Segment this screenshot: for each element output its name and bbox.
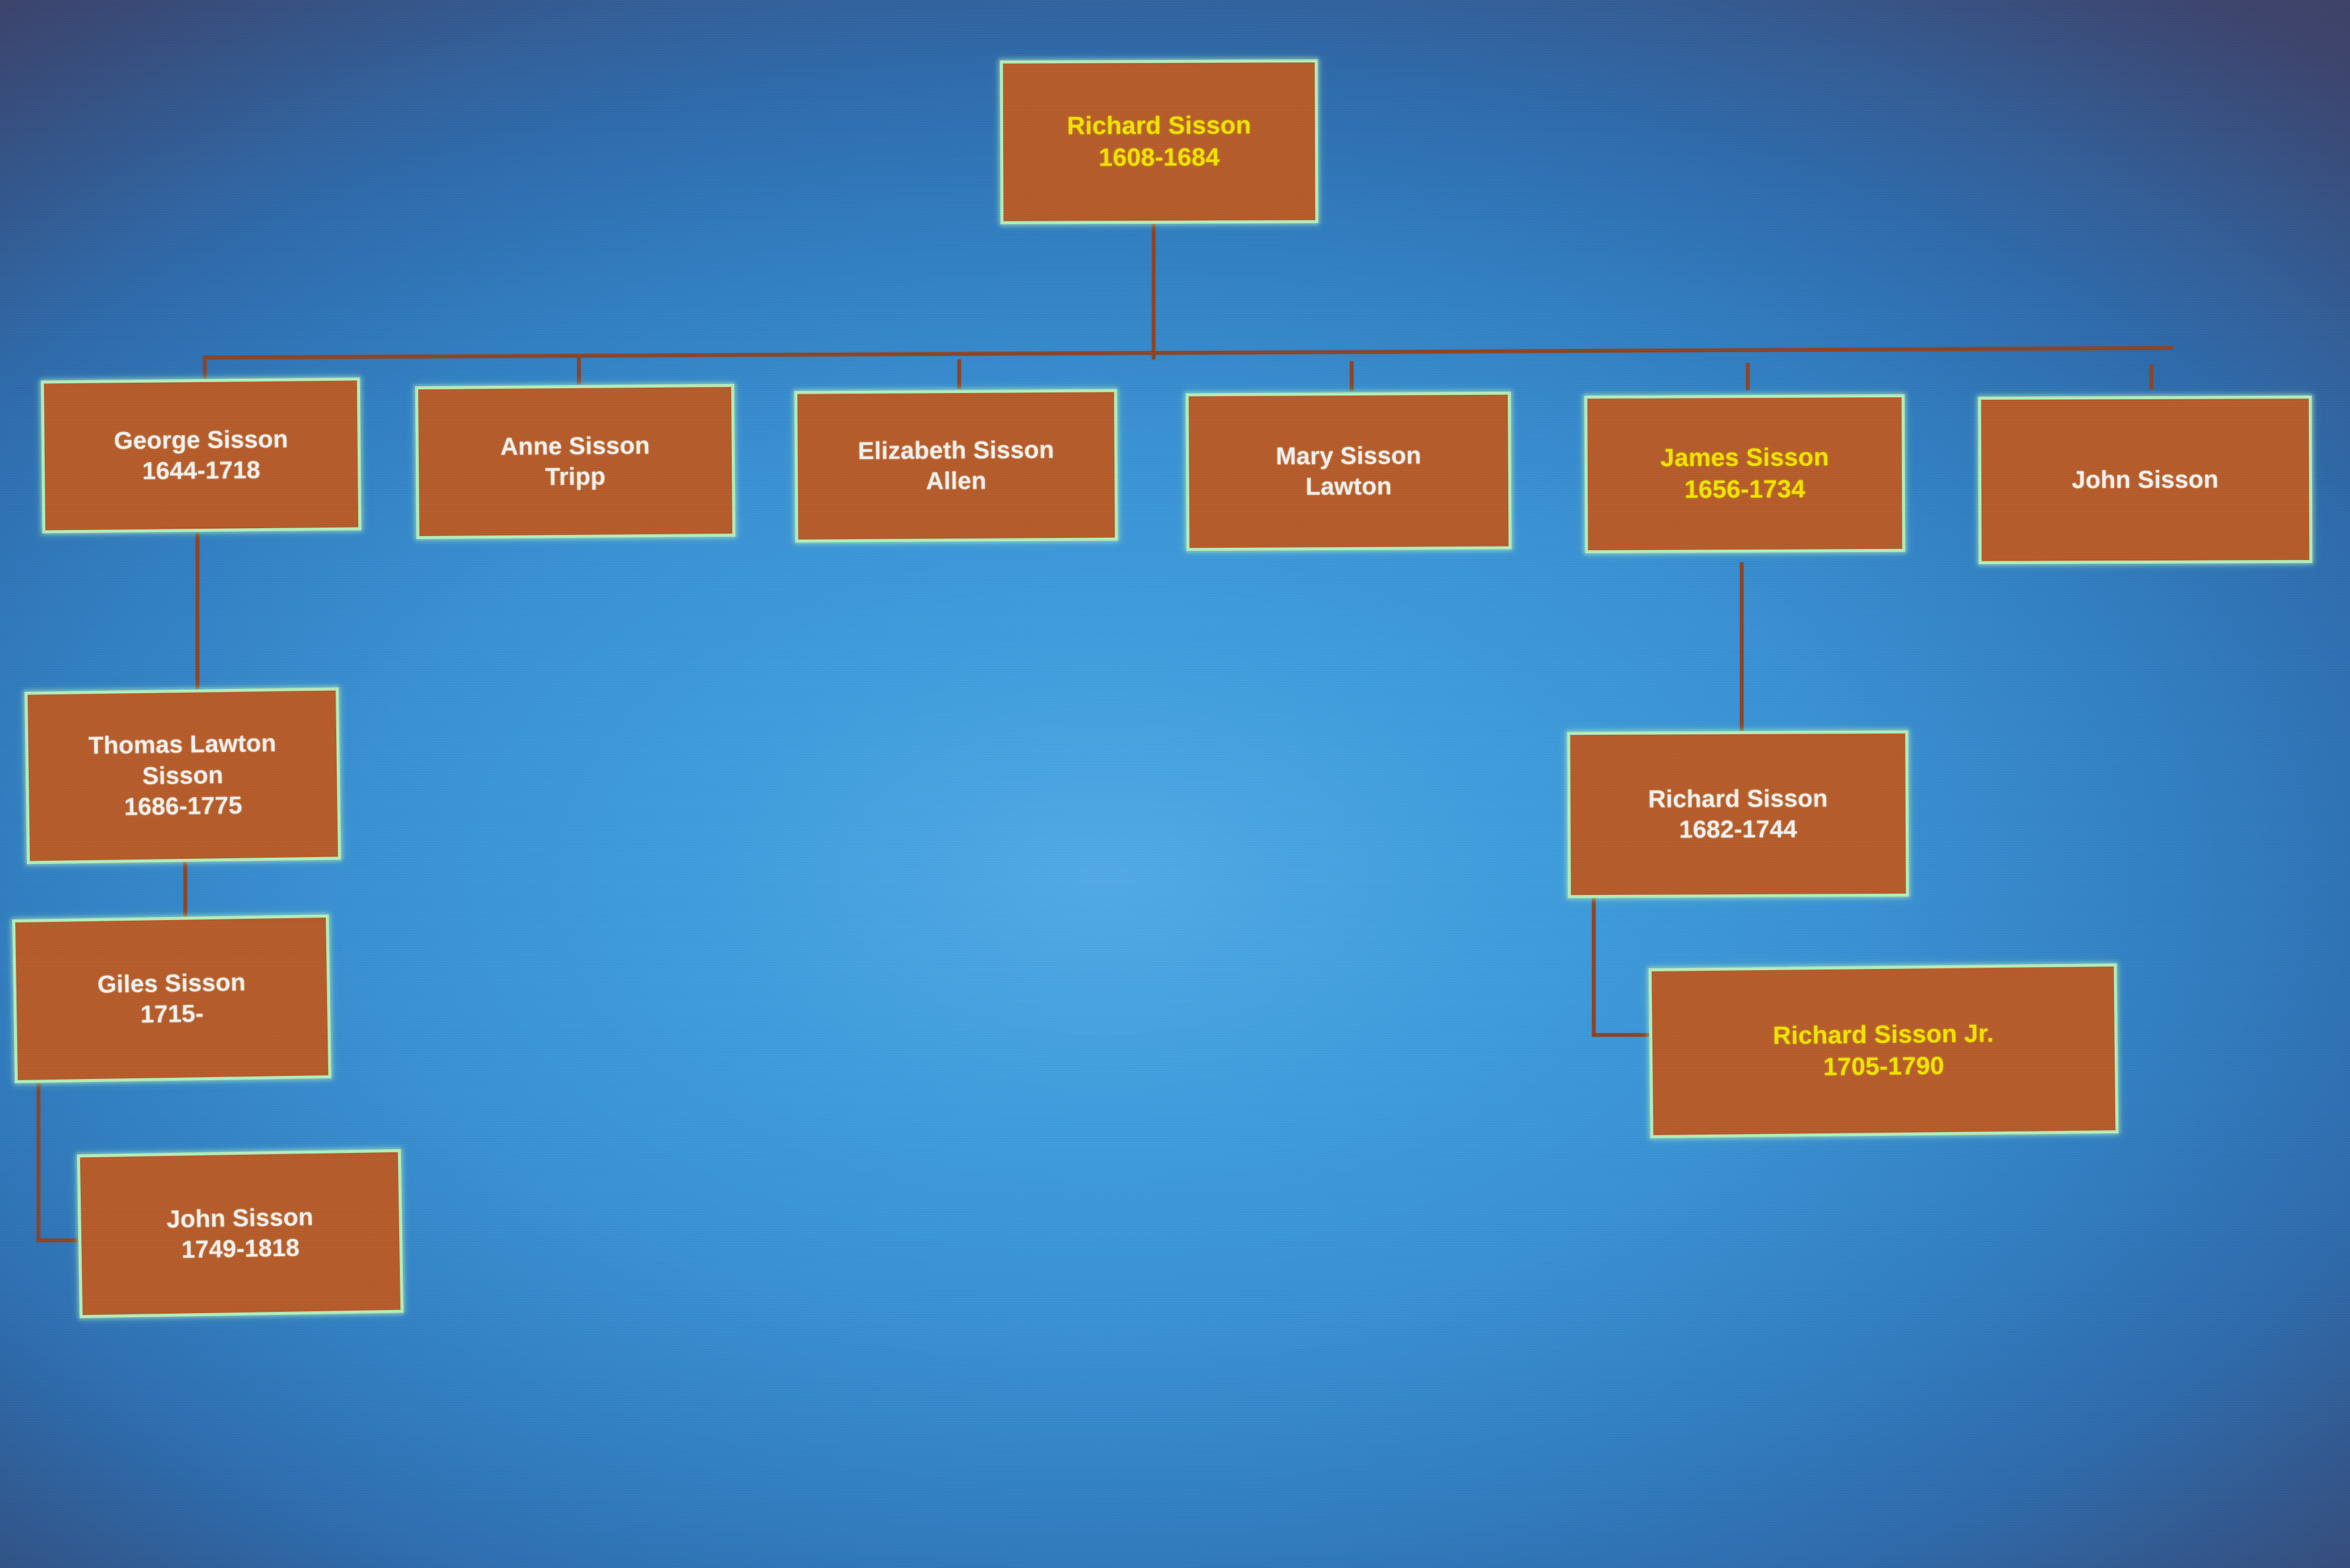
connector-drop-anne — [577, 358, 581, 385]
node-dates: 1682-1744 — [1577, 814, 1899, 846]
node-surname: Sisson — [35, 758, 331, 793]
connector-drop-mary — [1350, 361, 1354, 391]
connector-richard2-to-richardjr-vertical — [1592, 897, 1596, 1037]
node-surname: Tripp — [425, 460, 726, 493]
node-name: John Sisson — [1987, 464, 2303, 496]
node-john-sisson-top[interactable]: John Sisson — [1978, 396, 2313, 564]
connector-drop-john-top — [2149, 365, 2153, 389]
node-mary-sisson-lawton[interactable]: Mary Sisson Lawton — [1185, 392, 1511, 551]
node-george-sisson[interactable]: George Sisson 1644-1718 — [41, 378, 361, 534]
node-richard-sisson-root[interactable]: Richard Sisson 1608-1684 — [1000, 59, 1319, 224]
node-name: Richard Sisson Jr. — [1658, 1017, 2109, 1053]
node-dates: 1686-1775 — [35, 789, 331, 824]
node-surname: Lawton — [1195, 471, 1502, 503]
node-name: Elizabeth Sisson — [804, 434, 1108, 466]
node-thomas-lawton-sisson[interactable]: Thomas Lawton Sisson 1686-1775 — [24, 687, 341, 864]
node-name: James Sisson — [1594, 441, 1896, 474]
node-name: Thomas Lawton — [34, 727, 331, 762]
node-anne-sisson-tripp[interactable]: Anne Sisson Tripp — [415, 384, 735, 539]
connector-drop-james — [1746, 363, 1750, 390]
node-name: Anne Sisson — [425, 430, 726, 463]
node-dates: 1656-1734 — [1594, 473, 1896, 506]
connector-drop-elizabeth — [957, 359, 961, 389]
node-giles-sisson[interactable]: Giles Sisson 1715- — [12, 915, 331, 1083]
node-richard-sisson-jr[interactable]: Richard Sisson Jr. 1705-1790 — [1649, 963, 2119, 1138]
connector-george-to-thomas — [196, 533, 199, 693]
node-richard-sisson-1682[interactable]: Richard Sisson 1682-1744 — [1567, 731, 1909, 898]
connector-giles-to-john-vertical — [37, 1081, 40, 1242]
node-john-sisson-bottom[interactable]: John Sisson 1749-1818 — [77, 1149, 403, 1319]
node-name: John Sisson — [87, 1200, 393, 1236]
node-name: George Sisson — [51, 423, 352, 457]
node-dates: 1608-1684 — [1009, 141, 1309, 174]
node-dates: 1715- — [23, 996, 322, 1032]
slide-background — [0, 0, 2350, 1568]
node-dates: 1705-1790 — [1659, 1048, 2109, 1084]
connector-thomas-to-giles — [183, 856, 187, 923]
node-name: Richard Sisson — [1009, 109, 1309, 142]
node-surname: Allen — [804, 465, 1108, 497]
node-name: Giles Sisson — [22, 966, 321, 1001]
node-dates: 1644-1718 — [51, 454, 352, 488]
slide-canvas: Richard Sisson 1608-1684 George Sisson 1… — [0, 0, 2350, 1568]
node-james-sisson[interactable]: James Sisson 1656-1734 — [1584, 394, 1905, 553]
node-elizabeth-sisson-allen[interactable]: Elizabeth Sisson Allen — [794, 389, 1118, 542]
connector-root-stem — [1152, 223, 1155, 359]
connector-james-to-richard2 — [1740, 562, 1744, 735]
node-dates: 1749-1818 — [87, 1231, 394, 1267]
node-name: Richard Sisson — [1577, 782, 1899, 815]
node-name: Mary Sisson — [1195, 440, 1502, 472]
